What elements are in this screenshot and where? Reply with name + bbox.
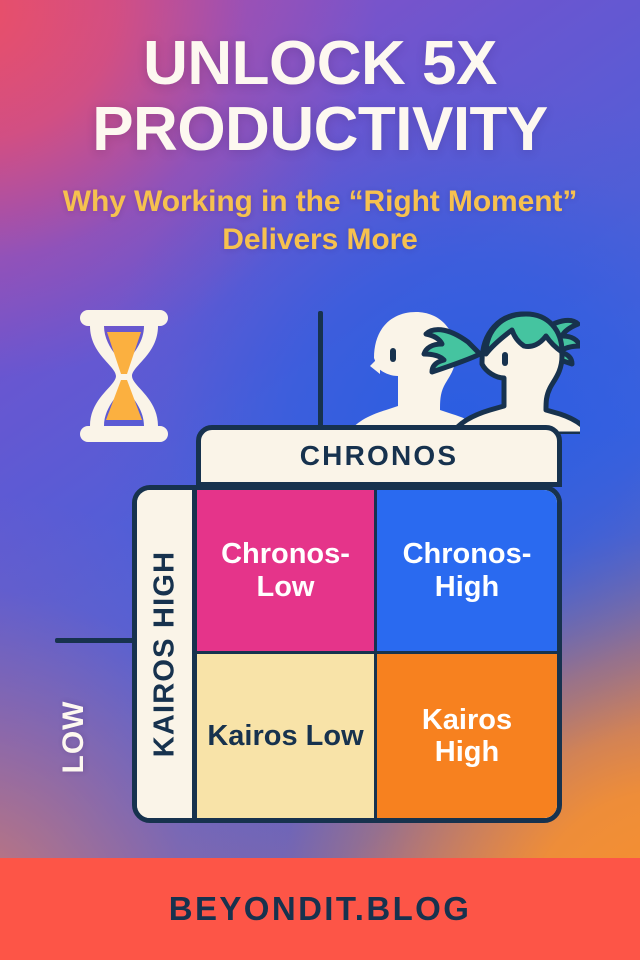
matrix-quadrants: Chronos-Low Chronos-High Kairos Low Kair… xyxy=(197,490,557,818)
page-title-line-2: PRODUCTIVITY xyxy=(22,100,618,160)
kairos-row-header: KAIROS HIGH xyxy=(137,490,197,818)
hourglass-icon xyxy=(76,308,172,444)
axis-label-low: LOW xyxy=(54,672,94,802)
axis-horizontal-line xyxy=(55,638,139,643)
headline-block: UNLOCK 5X PRODUCTIVITY Why Working in th… xyxy=(0,34,640,259)
head-profile-icon xyxy=(348,312,486,434)
quadrant-kairos-high[interactable]: Kairos High xyxy=(377,654,557,818)
page-title-line-1: UNLOCK 5X xyxy=(22,34,618,94)
chronos-column-header: CHRONOS xyxy=(196,425,562,487)
axis-vertical-line xyxy=(318,311,323,428)
page-subtitle: Why Working in the “Right Moment” Delive… xyxy=(22,183,618,259)
kairos-row-header-label: KAIROS HIGH xyxy=(148,551,181,758)
footer-banner: BEYONDIT.BLOG xyxy=(0,858,640,960)
kairos-chronos-matrix: KAIROS HIGH Chronos-Low Chronos-High Kai… xyxy=(132,485,562,823)
quadrant-kairos-low[interactable]: Kairos Low xyxy=(197,654,377,818)
brand-url[interactable]: BEYONDIT.BLOG xyxy=(169,890,472,928)
quadrant-chronos-low[interactable]: Chronos-Low xyxy=(197,490,377,654)
quadrant-chronos-high[interactable]: Chronos-High xyxy=(377,490,557,654)
poster-canvas: UNLOCK 5X PRODUCTIVITY Why Working in th… xyxy=(0,0,640,960)
chronos-column-header-label: CHRONOS xyxy=(300,440,459,472)
figures-illustration xyxy=(340,302,580,434)
